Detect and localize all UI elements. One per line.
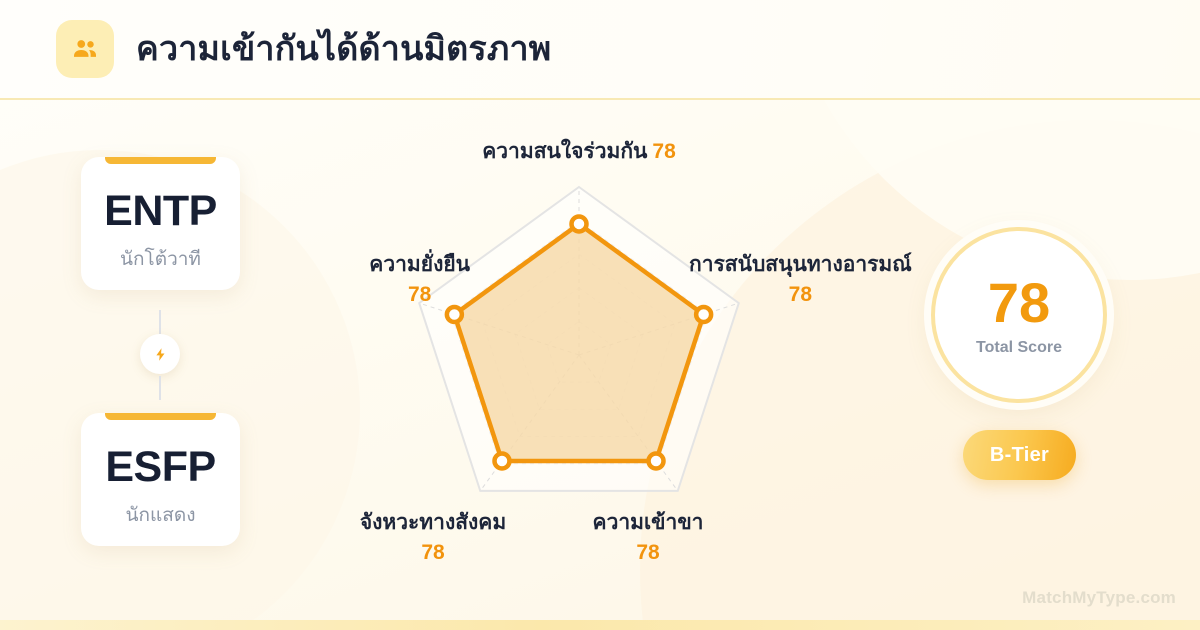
axis-label-bottom-right: ความเข้าขา 78 — [593, 510, 704, 565]
site-watermark: MatchMyType.com — [1022, 588, 1176, 608]
connector-line-top — [159, 310, 161, 334]
axis-label-top: ความสนใจร่วมกัน78 — [482, 139, 676, 165]
card-accent-bar — [105, 157, 216, 164]
axis-label-left: ความยั่งยืน 78 — [369, 252, 470, 307]
type-card-second[interactable]: ESFP นักแสดง — [81, 413, 240, 546]
axis-label-right: การสนับสนุนทางอารมณ์ 78 — [689, 252, 912, 307]
bottom-accent-strip — [0, 620, 1200, 630]
total-score-badge: 78 Total Score — [931, 227, 1107, 403]
radar-data-point — [447, 307, 462, 322]
page-header: ความเข้ากันได้ด้านมิตรภาพ — [0, 0, 1200, 100]
type-card-first[interactable]: ENTP นักโต้วาที — [81, 157, 240, 290]
radar-data-point — [696, 307, 711, 322]
people-group-icon — [56, 20, 114, 78]
tier-label: B-Tier — [990, 444, 1049, 467]
radar-data-point — [649, 454, 664, 469]
radar-chart: ความสนใจร่วมกัน78 การสนับสนุนทางอารมณ์ 7… — [300, 110, 860, 610]
type-connector — [139, 310, 181, 400]
tier-badge: B-Tier — [963, 430, 1076, 480]
page-title: ความเข้ากันได้ด้านมิตรภาพ — [136, 32, 551, 66]
radar-data-point — [494, 454, 509, 469]
axis-label-bottom-left: จังหวะทางสังคม 78 — [360, 510, 506, 565]
total-score-value: 78 — [988, 275, 1050, 331]
card-accent-bar — [105, 413, 216, 420]
total-score-label: Total Score — [976, 340, 1062, 356]
radar-data-point — [572, 216, 587, 231]
lightning-bolt-icon — [140, 334, 180, 374]
type-code-second: ESFP — [105, 446, 215, 489]
type-code-first: ENTP — [104, 190, 217, 233]
infographic-canvas: ความเข้ากันได้ด้านมิตรภาพ ENTP นักโต้วาท… — [0, 0, 1200, 630]
connector-line-bottom — [159, 376, 161, 400]
type-name-first: นักโต้วาที — [120, 250, 201, 269]
type-name-second: นักแสดง — [126, 506, 196, 525]
